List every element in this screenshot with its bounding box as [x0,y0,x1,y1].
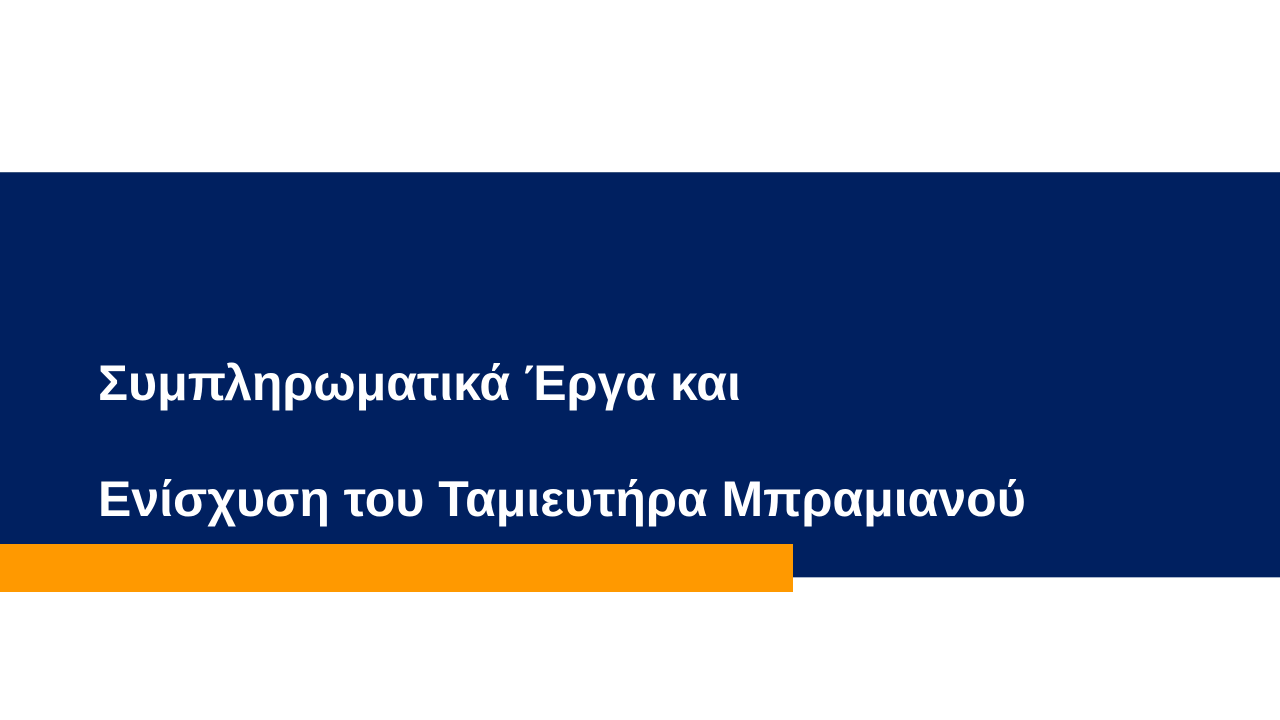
slide-title-line-1: Συμπληρωματικά Έργα και [98,354,1138,412]
slide-title: Συμπληρωματικά Έργα και Ενίσχυση του Ταμ… [98,296,1138,586]
presentation-slide: Συμπληρωματικά Έργα και Ενίσχυση του Ταμ… [0,0,1280,720]
slide-title-line-2: Ενίσχυση του Ταμιευτήρα Μπραμιανού [98,470,1138,528]
